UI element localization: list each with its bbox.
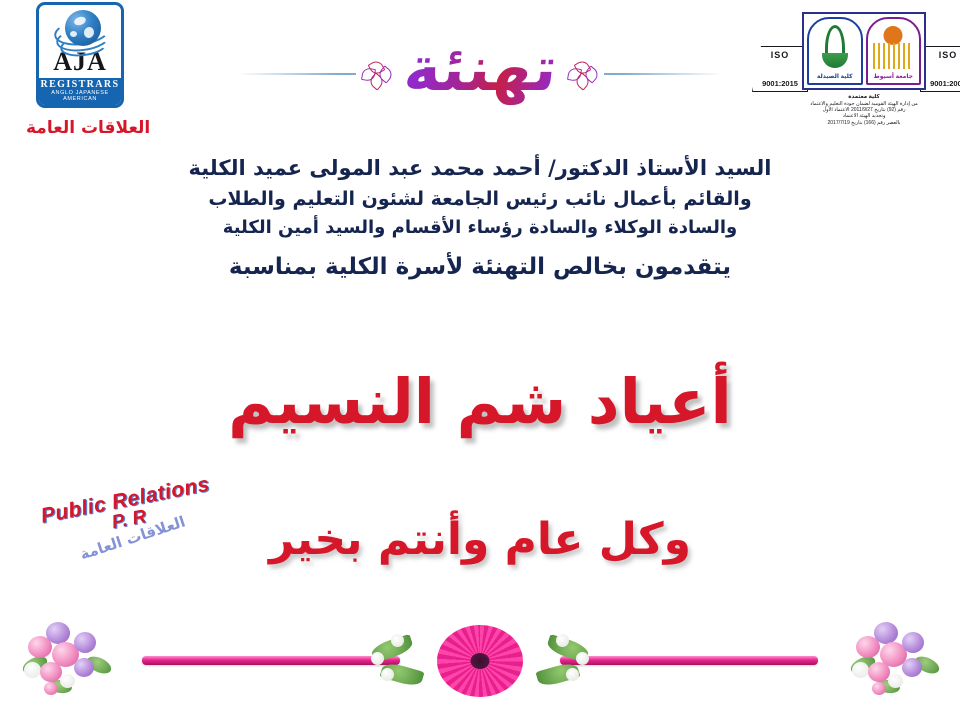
aja-logo-tagline: ANGLO JAPANESE AMERICAN (39, 90, 121, 105)
body-line-3: والسادة الوكلاء والسادة رؤساء الأقسام وا… (40, 214, 920, 242)
gerbera-flower-icon (365, 620, 595, 702)
title-rule-right (604, 73, 722, 75)
iso-badge-left-number: 9001:2015 (762, 79, 798, 88)
greeting-card: AJA REGISTRARS ANGLO JAPANESE AMERICAN ا… (0, 0, 960, 720)
iso-badge-right-number: 9001:2008 (930, 79, 960, 88)
public-relations-label: العلاقات العامة (26, 118, 150, 138)
university-seal-label: جامعة أسيوط (868, 73, 920, 80)
accreditation-text: كلية معتمدة من إدارة الهيئة القومية لضما… (796, 94, 932, 126)
iso-badge-left: ISO 9001:2015 (752, 46, 808, 92)
iso-badge-left-word: ISO (771, 50, 790, 60)
calligraphy-text: تهنئة (394, 38, 566, 110)
accreditation-line-5: بالعصر رقم (166) بتاريخ 2017/7/19 (796, 120, 932, 126)
aja-logo-registrars: REGISTRARS (39, 78, 121, 90)
divider-bar-right (560, 656, 818, 665)
floral-divider (0, 612, 960, 720)
divider-bar-left (142, 656, 400, 665)
public-relations-logo: Public Relations P. R العلاقات العامة (30, 472, 233, 593)
rose-bouquet-icon (18, 618, 114, 704)
body-line-4: يتقدمون بخالص التهنئة لأسرة الكلية بمناس… (40, 250, 920, 286)
iso-badge-right-word: ISO (939, 50, 958, 60)
aja-registrars-logo: AJA REGISTRARS ANGLO JAPANESE AMERICAN (36, 2, 124, 108)
emblem-frame: جامعة أسيوط كلية الصيدلة (802, 12, 926, 90)
accreditation-line-1: كلية معتمدة (796, 94, 932, 101)
occasion-headline: أعياد شم النسيم (0, 368, 960, 436)
university-seal-icon: جامعة أسيوط (866, 17, 922, 85)
university-iso-emblem: ISO 9001:2015 ISO 9001:2008 جامعة أسيوط … (780, 6, 948, 138)
pharmacy-seal-icon: كلية الصيدلة (807, 17, 863, 85)
floral-ornament-icon (360, 59, 394, 89)
floral-ornament-icon (566, 59, 600, 89)
iso-badge-right: ISO 9001:2008 (920, 46, 960, 92)
greeting-body: السيد الأستاذ الدكتور/ أحمد محمد عبد الم… (40, 152, 920, 286)
body-line-2: والقائم بأعمال نائب رئيس الجامعة لشئون ا… (40, 185, 920, 214)
globe-icon (52, 9, 108, 48)
rose-bouquet-icon (846, 618, 942, 704)
title-rule-left (238, 73, 356, 75)
pharmacy-seal-label: كلية الصيدلة (809, 73, 861, 80)
body-line-1: السيد الأستاذ الدكتور/ أحمد محمد عبد الم… (40, 152, 920, 185)
